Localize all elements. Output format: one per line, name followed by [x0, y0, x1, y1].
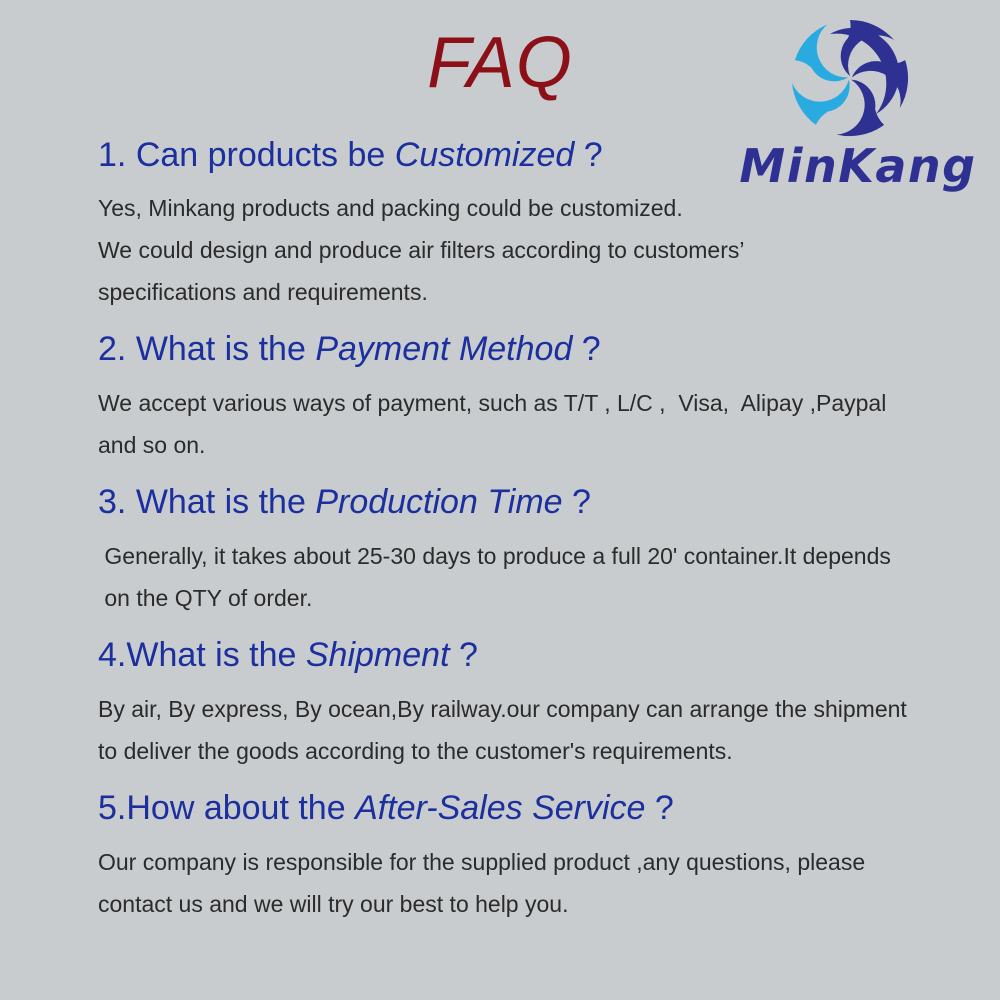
faq-question-2-tail: ? — [572, 330, 600, 368]
faq-question-3-tail: ? — [563, 483, 591, 521]
faq-question-4-tail: ? — [450, 636, 478, 674]
faq-answer-5: Our company is responsible for the suppl… — [98, 841, 978, 925]
faq-question-2-emphasis: Payment Method — [315, 330, 572, 368]
faq-question-2: 2. What is the Payment Method ? — [98, 326, 978, 372]
faq-item-1: 1. Can products be Customized ? Yes, Min… — [98, 132, 978, 313]
faq-answer-2: We accept various ways of payment, such … — [98, 382, 978, 466]
faq-question-4-number: 4. — [98, 636, 126, 674]
faq-question-5-number: 5. — [98, 789, 126, 827]
faq-answer-4: By air, By express, By ocean,By railway.… — [98, 688, 978, 772]
minkang-swirl-logo-icon — [786, 14, 914, 142]
faq-content: 1. Can products be Customized ? Yes, Min… — [98, 132, 978, 925]
faq-item-4: 4.What is the Shipment ? By air, By expr… — [98, 632, 978, 772]
faq-question-1-lead: Can products be — [136, 136, 395, 174]
faq-page: FAQ — [0, 0, 1000, 1000]
faq-question-5-lead: How about the — [126, 789, 355, 827]
faq-item-5: 5.How about the After-Sales Service ? Ou… — [98, 785, 978, 925]
faq-question-2-lead: What is the — [136, 330, 316, 368]
faq-question-2-number: 2. — [98, 330, 136, 368]
faq-answer-3: Generally, it takes about 25-30 days to … — [98, 535, 978, 619]
faq-question-3-number: 3. — [98, 483, 136, 521]
faq-question-5-tail: ? — [645, 789, 673, 827]
faq-question-5: 5.How about the After-Sales Service ? — [98, 785, 978, 831]
faq-question-4: 4.What is the Shipment ? — [98, 632, 978, 678]
faq-question-3-lead: What is the — [136, 483, 316, 521]
faq-question-1-number: 1. — [98, 136, 136, 174]
faq-question-3: 3. What is the Production Time ? — [98, 479, 978, 525]
faq-question-4-emphasis: Shipment — [306, 636, 450, 674]
faq-item-2: 2. What is the Payment Method ? We accep… — [98, 326, 978, 466]
faq-item-3: 3. What is the Production Time ? General… — [98, 479, 978, 619]
faq-question-1-tail: ? — [574, 136, 602, 174]
faq-question-3-emphasis: Production Time — [315, 483, 562, 521]
faq-question-4-lead: What is the — [126, 636, 306, 674]
faq-question-5-emphasis: After-Sales Service — [355, 789, 645, 827]
faq-question-1: 1. Can products be Customized ? — [98, 132, 978, 178]
faq-answer-1: Yes, Minkang products and packing could … — [98, 187, 978, 313]
faq-question-1-emphasis: Customized — [395, 136, 575, 174]
